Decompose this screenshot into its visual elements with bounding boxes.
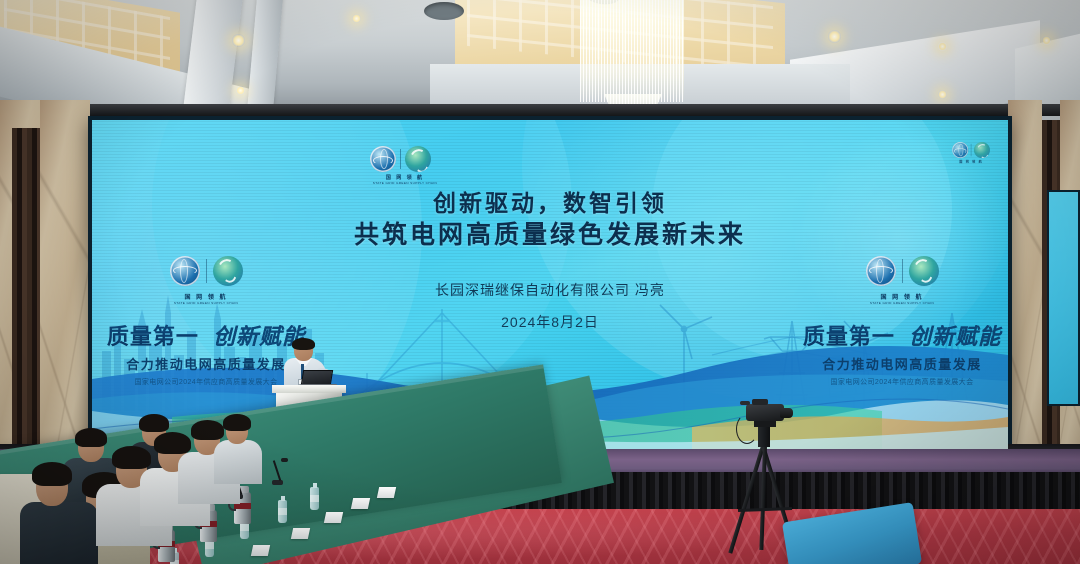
banner-right-logo-caption-sub: STATE GRID GREEN SUPPLY CHAIN bbox=[810, 301, 994, 305]
logo-caption: 国 网 领 航 bbox=[952, 159, 990, 163]
logo-caption-sub: STATE GRID GREEN SUPPLY CHAIN bbox=[373, 181, 437, 185]
ceiling-spotlight bbox=[236, 86, 245, 95]
camera-microphone bbox=[740, 401, 750, 405]
banner-right-headline-b: 创新赋能 bbox=[909, 324, 1001, 349]
tripod-head bbox=[758, 427, 770, 447]
green-supply-swirl-icon bbox=[405, 146, 431, 172]
banner-right-logo-caption: 国 网 领 航 bbox=[802, 292, 1002, 301]
logo-divider bbox=[971, 144, 972, 156]
green-supply-swirl-icon bbox=[909, 256, 939, 286]
camera-viewfinder bbox=[752, 399, 768, 405]
water-bottle bbox=[278, 500, 287, 523]
banner-right-footline: 国家电网公司2024年供应商高质量发展大会 bbox=[802, 377, 1002, 387]
green-supply-swirl-icon bbox=[213, 256, 243, 286]
logo-divider bbox=[902, 259, 903, 283]
presenter-hair bbox=[292, 338, 315, 350]
audience-person bbox=[214, 418, 258, 480]
ceiling bbox=[0, 0, 1080, 112]
slide-title-line2: 共筑电网高质量绿色发展新未来 bbox=[92, 218, 1008, 252]
state-grid-globe-icon bbox=[866, 256, 896, 286]
banner-left-subline: 合力推动电网高质量发展 bbox=[106, 354, 306, 373]
tripod-leg bbox=[759, 446, 767, 550]
ceiling-spotlight bbox=[938, 42, 947, 51]
banner-left-logos bbox=[106, 256, 306, 286]
logo-divider bbox=[400, 149, 401, 169]
camera-cable bbox=[736, 414, 758, 444]
name-card bbox=[291, 528, 310, 539]
banner-right-headline-a: 质量第一 bbox=[803, 324, 895, 349]
chandelier bbox=[580, 0, 684, 102]
conference-hall-photo: 国 网 领 航 STATE GRID GREEN SUPPLY CHAIN 国 … bbox=[0, 0, 1080, 564]
logo-divider bbox=[206, 259, 207, 283]
ceiling-spotlight bbox=[232, 34, 245, 47]
banner-right-subline: 合力推动电网高质量发展 bbox=[802, 354, 1002, 373]
screen-center-logo: 国 网 领 航 STATE GRID GREEN SUPPLY CHAIN bbox=[370, 146, 440, 185]
banner-left-headline-a: 质量第一 bbox=[107, 324, 199, 349]
name-card bbox=[351, 498, 370, 509]
logo-caption: 国 网 领 航 bbox=[370, 174, 440, 181]
ceiling-spotlight bbox=[352, 14, 361, 23]
state-grid-globe-icon bbox=[370, 146, 396, 172]
ceiling-beam-vertical-2 bbox=[247, 0, 283, 114]
banner-left: 国 网 领 航 STATE GRID GREEN SUPPLY CHAIN 质量… bbox=[106, 256, 306, 387]
ceiling-spotlight bbox=[828, 30, 841, 43]
slide-title-line1: 创新驱动，数智引领 bbox=[92, 188, 1008, 218]
ceiling-rail bbox=[0, 104, 1080, 116]
side-display-screen bbox=[1047, 190, 1080, 406]
ceiling-recess-hole bbox=[424, 2, 464, 20]
banner-left-logo-caption: 国 网 领 航 bbox=[106, 292, 306, 301]
camera-lens bbox=[780, 408, 793, 418]
banner-left-logo-caption-sub: STATE GRID GREEN SUPPLY CHAIN bbox=[114, 301, 298, 305]
name-card bbox=[377, 487, 396, 498]
table-microphone bbox=[272, 458, 308, 486]
name-card bbox=[324, 512, 343, 523]
ceiling-spotlight bbox=[1042, 36, 1051, 45]
name-card bbox=[251, 545, 270, 556]
state-grid-globe-icon bbox=[952, 142, 968, 158]
banner-right: 国 网 领 航 STATE GRID GREEN SUPPLY CHAIN 质量… bbox=[802, 256, 1002, 387]
water-bottle bbox=[310, 487, 319, 510]
podium-top-surface bbox=[272, 385, 346, 393]
screen-corner-logo: 国 网 领 航 bbox=[952, 142, 990, 164]
ceiling-spotlight bbox=[938, 90, 947, 99]
state-grid-globe-icon bbox=[170, 256, 200, 286]
audience-person bbox=[20, 462, 94, 562]
banner-right-logos bbox=[802, 256, 1002, 286]
green-supply-swirl-icon bbox=[974, 142, 990, 158]
